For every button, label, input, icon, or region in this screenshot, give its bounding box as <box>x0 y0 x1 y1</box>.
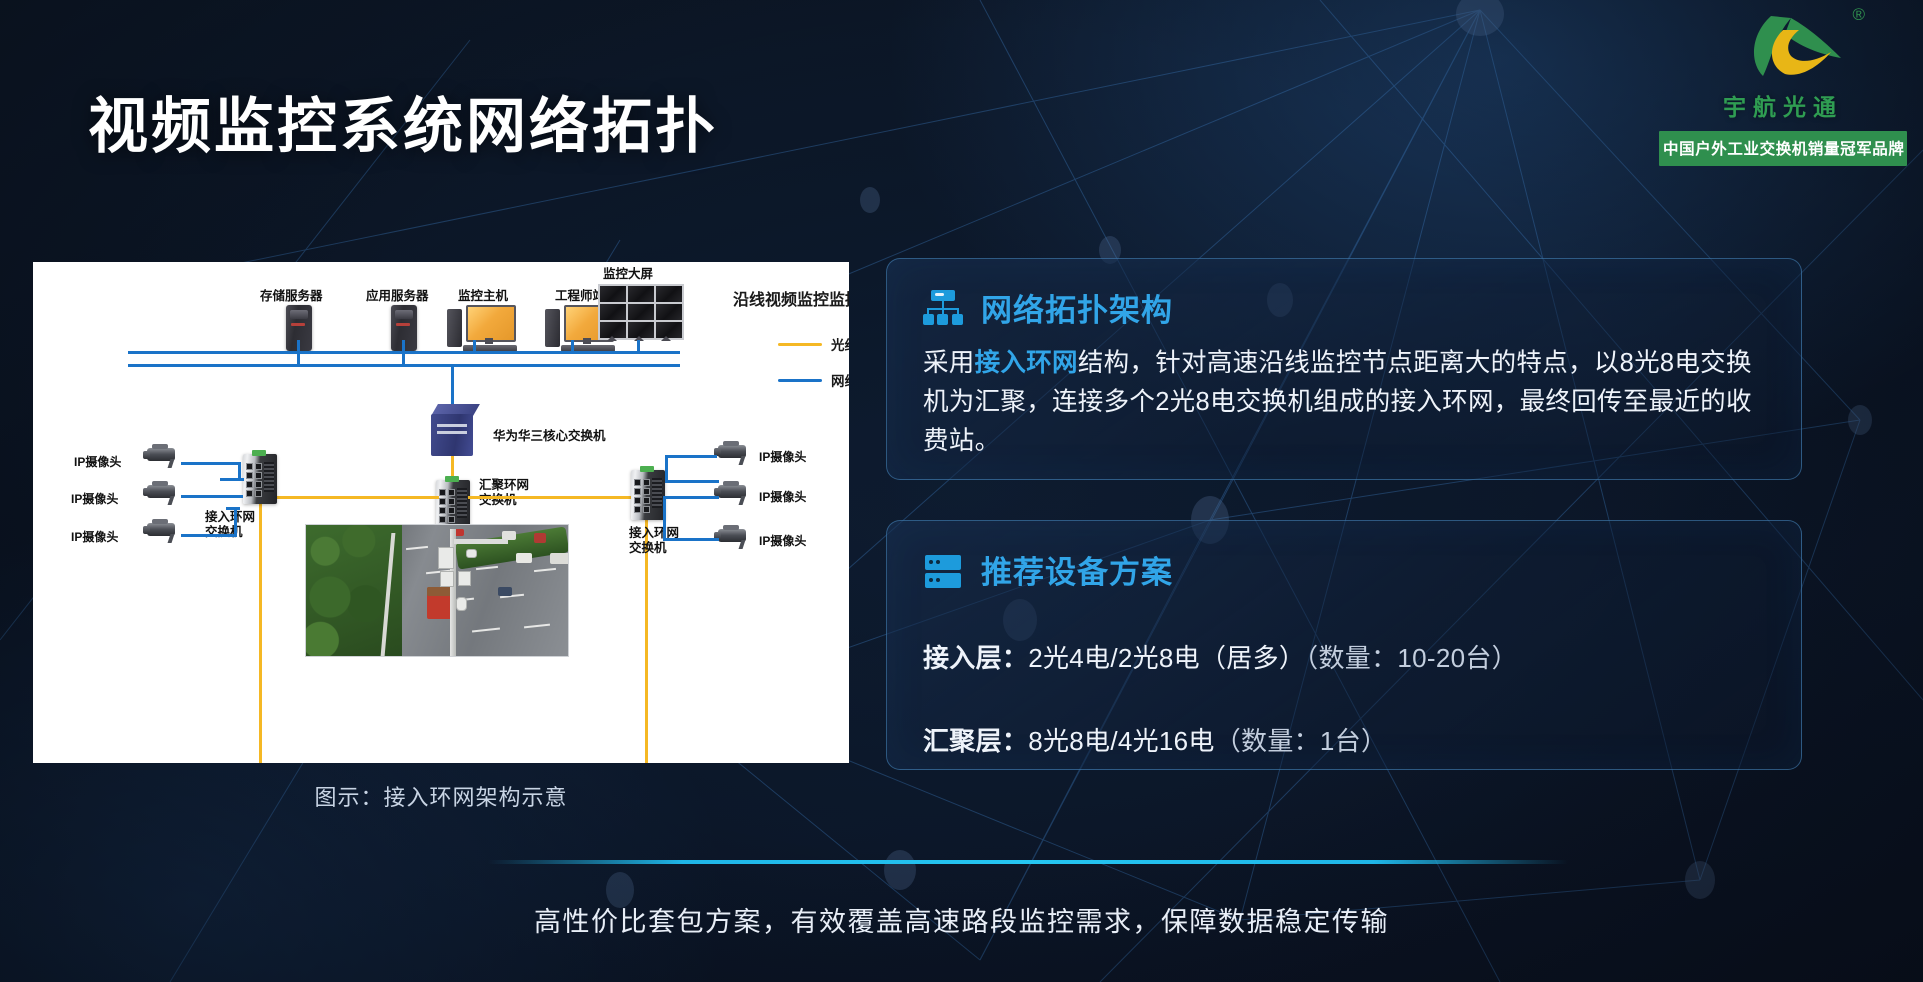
lan-line <box>665 496 719 499</box>
core-uplink-line <box>451 366 454 406</box>
card-recommended-equipment: 推荐设备方案 接入层：2光4电/2光8电（居多）（数量：10-20台） 汇聚层：… <box>886 520 1802 770</box>
lan-line <box>181 462 241 465</box>
card-body: 采用接入环网结构，针对高速沿线监控节点距离大的特点，以8光8电交换机为汇聚，连接… <box>887 330 1801 460</box>
spec-key: 汇聚层： <box>923 726 1028 756</box>
card-title: 推荐设备方案 <box>981 547 1173 592</box>
lan-line <box>665 455 668 483</box>
industrial-switch-icon-left <box>243 454 277 504</box>
legend-label-fiber: 光纤 <box>831 334 849 354</box>
lan-line <box>665 480 719 483</box>
card-network-topology: 网络拓扑架构 采用接入环网结构，针对高速沿线监控节点距离大的特点，以8光8电交换… <box>886 258 1802 480</box>
label-aggregation-switch: 汇聚环网 交换机 <box>479 478 529 509</box>
spec-value: 8光8电/4光16电 <box>1028 726 1215 756</box>
drop-line <box>402 340 405 352</box>
legend-item-fiber: 光纤 <box>778 334 849 354</box>
card-title: 网络拓扑架构 <box>981 285 1173 330</box>
card-header: 推荐设备方案 <box>887 521 1801 592</box>
industrial-switch-icon-right <box>631 470 665 520</box>
drop-line <box>297 340 300 352</box>
lan-line <box>665 455 717 458</box>
ip-camera-icon <box>143 521 181 543</box>
spec-key: 接入层： <box>923 643 1028 673</box>
ip-camera-icon <box>714 443 752 465</box>
page-footer: 高性价比套包方案，有效覆盖高速路段监控需求，保障数据稳定传输 <box>0 900 1923 939</box>
lan-line <box>220 478 244 481</box>
spec-value: 2光4电/2光8电（居多） <box>1028 643 1305 673</box>
spec-row-access-layer: 接入层：2光4电/2光8电（居多）（数量：10-20台） <box>887 638 1801 675</box>
fiber-ring-top-left <box>259 496 439 499</box>
label-app-server: 应用服务器 <box>366 285 429 304</box>
lan-line <box>181 534 237 537</box>
legend-item-lan: 网线 <box>778 370 849 390</box>
core-switch-icon <box>431 404 473 456</box>
server-rack-icon <box>923 550 963 590</box>
ip-camera-icon <box>714 483 752 505</box>
label-access-switch-right: 接入环网 交换机 <box>629 526 679 557</box>
legend-label-lan: 网线 <box>831 370 849 390</box>
fiber-ring-left <box>259 496 262 763</box>
network-topology-icon <box>923 288 963 328</box>
registered-mark-icon: ® <box>1852 6 1865 23</box>
page-title: 视频监控系统网络拓扑 <box>88 78 718 165</box>
logo-company-name: 宇航光通 <box>1659 88 1907 122</box>
drop-line <box>571 340 574 352</box>
label-storage-server: 存储服务器 <box>260 285 323 304</box>
lan-line <box>663 496 666 540</box>
spec-quantity: （数量：1台） <box>1215 726 1388 756</box>
label-ip-camera-right-1: IP摄像头 <box>759 448 806 465</box>
brand-logo: ® 宇航光通 中国户外工业交换机销量冠军品牌 <box>1659 4 1907 166</box>
logo-mark: ® <box>1659 4 1907 86</box>
label-ip-camera-right-3: IP摄像头 <box>759 532 806 549</box>
highway-photo <box>305 524 569 657</box>
label-ip-camera-left-3: IP摄像头 <box>71 528 118 545</box>
diagram-caption: 图示：接入环网架构示意 <box>33 780 849 812</box>
video-wall-icon <box>598 284 684 340</box>
legend-swatch-lan <box>778 379 822 382</box>
spec-quantity: （数量：10-20台） <box>1305 643 1518 673</box>
lan-line <box>234 507 237 537</box>
section-divider <box>488 860 1568 864</box>
lan-line <box>663 538 719 541</box>
drop-line <box>473 340 476 352</box>
drop-line <box>297 351 300 365</box>
card-header: 网络拓扑架构 <box>887 259 1801 330</box>
logo-banner: 中国户外工业交换机销量冠军品牌 <box>1659 131 1907 166</box>
body-highlight: 接入环网 <box>975 349 1078 377</box>
topology-diagram-panel: 沿线视频监控监控 光纤 网线 存储服务器 应用服务器 监控主机 工程师站 监控大… <box>33 262 849 763</box>
drop-line <box>402 351 405 365</box>
diagram-legend: 光纤 网线 <box>778 334 849 406</box>
diagram-heading: 沿线视频监控监控 <box>733 286 849 310</box>
yuhang-swoosh-icon <box>1659 4 1907 86</box>
ip-camera-icon <box>714 527 752 549</box>
body-text-part: 采用 <box>923 349 975 377</box>
spec-row-aggregation-layer: 汇聚层：8光8电/4光16电（数量：1台） <box>887 721 1801 758</box>
ip-camera-icon <box>143 483 181 505</box>
drop-line <box>637 340 640 352</box>
label-ip-camera-right-2: IP摄像头 <box>759 488 806 505</box>
ip-camera-icon <box>143 446 181 468</box>
label-ip-camera-left-2: IP摄像头 <box>71 490 118 507</box>
label-monitor-host: 监控主机 <box>458 285 508 304</box>
label-core-switch: 华为华三核心交换机 <box>493 425 606 444</box>
lan-line <box>226 507 240 510</box>
fiber-ring-top-right <box>468 496 648 499</box>
label-ip-camera-left-1: IP摄像头 <box>74 453 121 470</box>
lan-line <box>181 495 243 498</box>
label-video-wall: 监控大屏 <box>603 263 653 282</box>
legend-swatch-fiber <box>778 343 822 346</box>
